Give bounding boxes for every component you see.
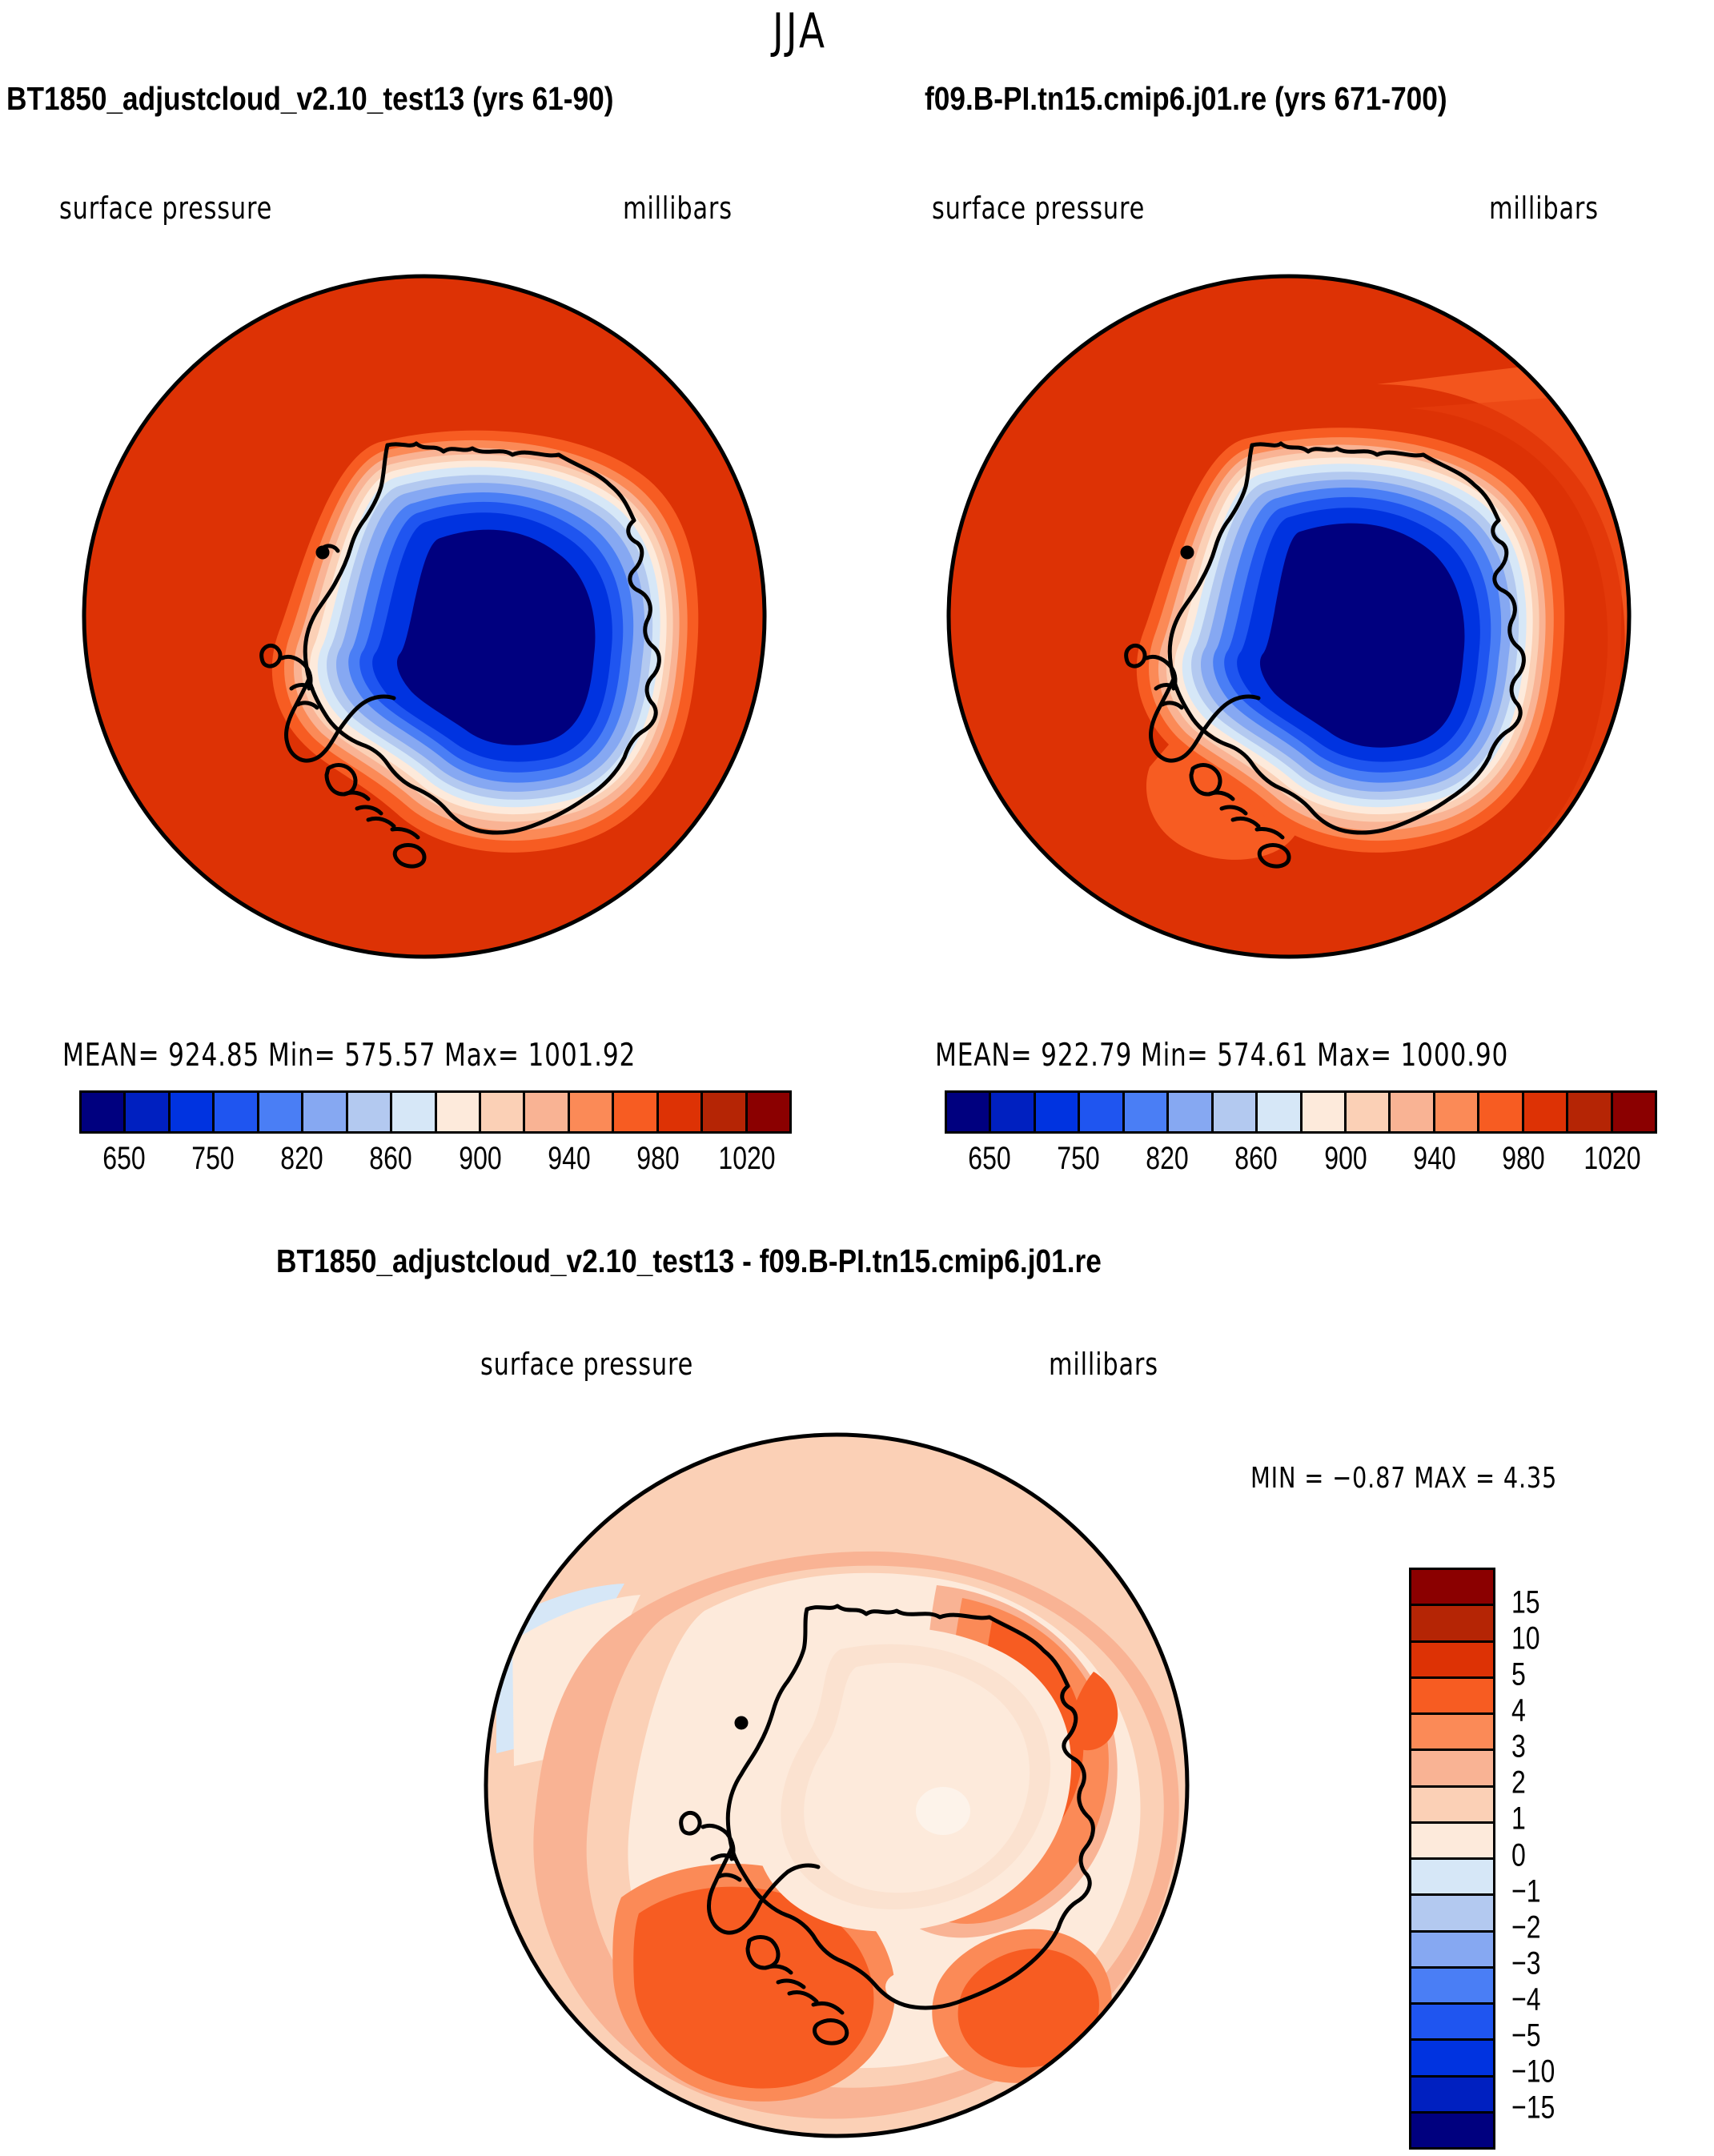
colorbar-diff-cell-11 [1411,1969,1493,2005]
colorbar-left-tick-820: 820 [280,1141,323,1177]
colorbar-right-cell-0 [947,1093,991,1131]
map-panel-right [929,256,1649,977]
colorbar-left-cell-3 [215,1093,259,1131]
colorbar-diff-ticks: 1510543210−1−2−3−4−5−10−15 [1511,1568,1640,2145]
diff-title: BT1850_adjustcloud_v2.10_test13 - f09.B-… [276,1243,1102,1280]
colorbar-diff-cell-10 [1411,1933,1493,1969]
variable-label-right: surface pressure [932,191,1145,226]
colorbar-diff-cell-5 [1411,1751,1493,1787]
colorbar-right-cell-4 [1125,1093,1169,1131]
case-title-left: BT1850_adjustcloud_v2.10_test13 (yrs 61-… [6,80,613,118]
variable-label-left: surface pressure [59,191,272,226]
variable-label-diff: surface pressure [480,1347,693,1382]
colorbar-right-tick-860: 860 [1235,1141,1278,1177]
colorbar-diff[interactable] [1409,1568,1495,2150]
colorbar-left-cell-15 [748,1093,789,1131]
colorbar-right-cell-12 [1479,1093,1523,1131]
colorbar-diff-cell-7 [1411,1824,1493,1860]
polar-map-diff [464,1417,1209,2154]
colorbar-right-cell-1 [991,1093,1035,1131]
colorbar-right-tick-820: 820 [1146,1141,1188,1177]
colorbar-left-cell-12 [614,1093,658,1131]
polar-map-right [929,256,1649,977]
stats-right: MEAN= 922.79 Min= 574.61 Max= 1000.90 [935,1038,1508,1074]
colorbar-right-tick-940: 940 [1413,1141,1455,1177]
colorbar-left-cell-4 [259,1093,303,1131]
colorbar-left-ticks: 6507508208609009409801020 [79,1141,792,1182]
colorbar-right-cell-10 [1391,1093,1435,1131]
colorbar-diff-tick-3: 4 [1511,1693,1526,1729]
colorbar-right-cell-14 [1568,1093,1612,1131]
colorbar-diff-tick-14: −15 [1511,2090,1555,2126]
colorbar-diff-tick-4: 3 [1511,1729,1526,1765]
colorbar-diff-tick-5: 2 [1511,1765,1526,1801]
case-title-right: f09.B-PI.tn15.cmip6.j01.re (yrs 671-700) [925,80,1447,118]
colorbar-right[interactable] [945,1090,1657,1134]
units-label-diff: millibars [1049,1347,1158,1382]
colorbar-right-cell-2 [1036,1093,1080,1131]
colorbar-right-cell-15 [1613,1093,1655,1131]
colorbar-left-cell-2 [171,1093,215,1131]
colorbar-diff-cell-0 [1411,1570,1493,1606]
colorbar-diff-tick-0: 15 [1511,1585,1540,1621]
colorbar-diff-cell-1 [1411,1606,1493,1642]
colorbar-diff-tick-1: 10 [1511,1621,1540,1657]
colorbar-diff-tick-10: −3 [1511,1945,1540,1981]
colorbar-diff-tick-8: −1 [1511,1873,1540,1909]
colorbar-diff-cell-15 [1411,2114,1493,2147]
colorbar-right-tick-750: 750 [1057,1141,1099,1177]
colorbar-left-tick-900: 900 [459,1141,501,1177]
colorbar-diff-cell-9 [1411,1896,1493,1932]
colorbar-diff-cell-2 [1411,1643,1493,1679]
colorbar-right-ticks: 6507508208609009409801020 [945,1141,1657,1182]
colorbar-right-cell-8 [1303,1093,1347,1131]
colorbar-right-tick-900: 900 [1324,1141,1367,1177]
colorbar-diff-cell-13 [1411,2041,1493,2077]
colorbar-diff-tick-6: 1 [1511,1801,1526,1837]
colorbar-left-tick-650: 650 [102,1141,145,1177]
colorbar-diff-tick-12: −5 [1511,2017,1540,2054]
colorbar-right-tick-650: 650 [968,1141,1010,1177]
colorbar-diff-cell-12 [1411,2005,1493,2041]
colorbar-right-cell-13 [1524,1093,1568,1131]
colorbar-left-cell-5 [303,1093,347,1131]
colorbar-left-cell-8 [437,1093,481,1131]
colorbar-diff-cell-14 [1411,2078,1493,2114]
colorbar-right-cell-6 [1214,1093,1258,1131]
colorbar-left[interactable] [79,1090,792,1134]
colorbar-left-tick-860: 860 [370,1141,412,1177]
colorbar-right-cell-3 [1080,1093,1124,1131]
colorbar-right-cell-9 [1347,1093,1391,1131]
colorbar-left-tick-940: 940 [548,1141,590,1177]
colorbar-right-cell-7 [1258,1093,1302,1131]
colorbar-right-cell-5 [1169,1093,1213,1131]
colorbar-right-tick-980: 980 [1502,1141,1544,1177]
colorbar-diff-cell-4 [1411,1715,1493,1751]
colorbar-diff-tick-9: −2 [1511,1909,1540,1945]
colorbar-diff-tick-11: −4 [1511,1981,1540,2017]
colorbar-left-cell-1 [126,1093,170,1131]
units-label-left: millibars [623,191,733,226]
colorbar-diff-tick-7: 0 [1511,1837,1526,1873]
map-panel-diff [464,1417,1209,2154]
polar-map-left [64,256,785,977]
colorbar-left-cell-9 [481,1093,525,1131]
colorbar-left-cell-13 [659,1093,703,1131]
colorbar-left-tick-1020: 1020 [719,1141,776,1177]
colorbar-left-tick-750: 750 [191,1141,234,1177]
colorbar-left-cell-10 [525,1093,569,1131]
units-label-right: millibars [1489,191,1599,226]
stats-left: MEAN= 924.85 Min= 575.57 Max= 1001.92 [62,1038,636,1074]
colorbar-diff-cell-6 [1411,1788,1493,1824]
colorbar-right-cell-11 [1435,1093,1479,1131]
colorbar-left-cell-6 [348,1093,392,1131]
colorbar-left-cell-11 [570,1093,614,1131]
colorbar-diff-cell-3 [1411,1679,1493,1715]
colorbar-right-tick-1020: 1020 [1584,1141,1641,1177]
colorbar-left-tick-980: 980 [636,1141,679,1177]
colorbar-left-cell-7 [392,1093,436,1131]
colorbar-left-cell-0 [82,1093,126,1131]
season-title: JJA [773,3,827,59]
colorbar-left-cell-14 [703,1093,747,1131]
colorbar-diff-tick-13: −10 [1511,2054,1555,2090]
diff-minmax-label: MIN = −0.87 MAX = 4.35 [1250,1462,1557,1495]
map-panel-left [64,256,785,977]
colorbar-diff-tick-2: 5 [1511,1657,1526,1693]
colorbar-diff-cell-8 [1411,1860,1493,1896]
